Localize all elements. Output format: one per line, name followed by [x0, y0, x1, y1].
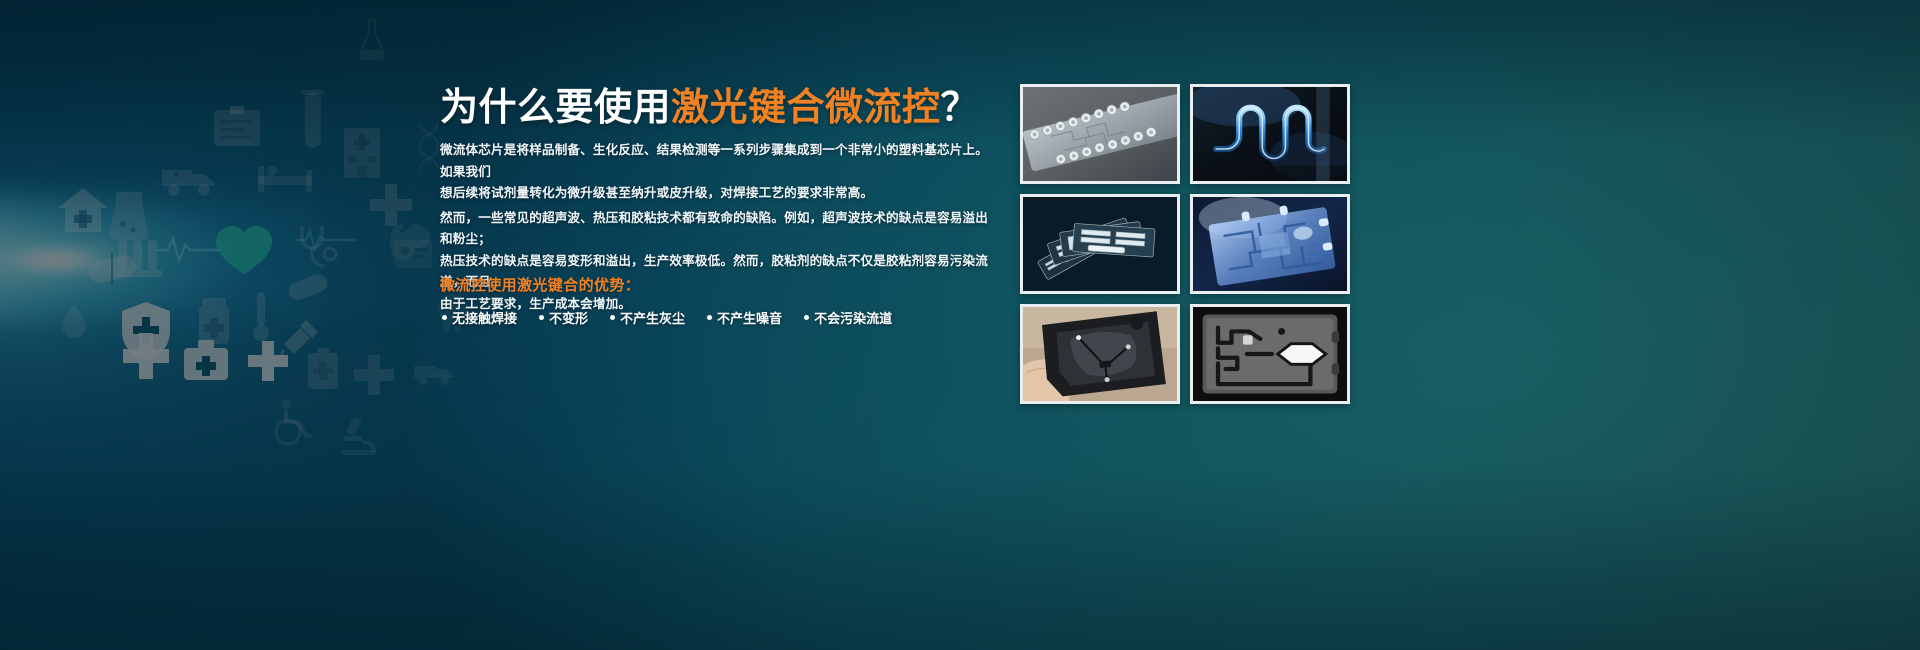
gallery-image-black-cartridge-chip[interactable] — [1190, 304, 1350, 404]
gallery-image-black-chip-in-hand[interactable] — [1020, 304, 1180, 404]
product-gallery — [1020, 84, 1350, 420]
content-column: 为什么要使用激光键合微流控？ 微流体芯片是将样品制备、生化反应、结果检测等一系列… — [440, 0, 1000, 650]
paragraph-line-1: 微流体芯片是将样品制备、生化反应、结果检测等一系列步骤集成到一个非常小的塑料基芯… — [440, 140, 996, 183]
advantage-label: 不产生噪音 — [717, 308, 782, 327]
advantages-subheading: 微流控使用激光键合的优势： — [440, 274, 640, 295]
glow-hotspot — [0, 242, 114, 278]
list-item: 无接触焊接 — [442, 308, 517, 327]
gallery-image-microfluidic-chip-with-ports[interactable] — [1020, 84, 1180, 184]
title-part-question-mark: ？ — [941, 87, 980, 129]
promo-banner: 为什么要使用激光键合微流控？ 微流体芯片是将样品制备、生化反应、结果检测等一系列… — [0, 0, 1920, 650]
paragraph-line-3: 然而，一些常见的超声波、热压和胶粘技术都有致命的缺陷。例如，超声波技术的缺点是容… — [440, 208, 996, 251]
advantages-list: 无接触焊接 不变形 不产生灰尘 不产生噪音 不会污染流道 — [442, 308, 1002, 327]
advantage-label: 无接触焊接 — [452, 308, 517, 327]
page-title: 为什么要使用激光键合微流控？ — [440, 87, 979, 129]
list-item: 不产生噪音 — [707, 308, 782, 327]
bullet-dot-icon — [610, 315, 615, 320]
advantage-label: 不变形 — [549, 308, 588, 327]
list-item: 不变形 — [539, 308, 588, 327]
gallery-image-chip-array-fan[interactable] — [1020, 194, 1180, 294]
bullet-dot-icon — [707, 315, 712, 320]
advantage-label: 不会污染流道 — [814, 308, 892, 327]
gallery-image-serpentine-channel-chip[interactable] — [1190, 84, 1350, 184]
title-part-white-prefix: 为什么要使用 — [440, 87, 671, 129]
bullet-dot-icon — [804, 315, 809, 320]
bullet-dot-icon — [442, 315, 447, 320]
bullet-dot-icon — [539, 315, 544, 320]
gallery-image-blue-transparent-manifold[interactable] — [1190, 194, 1350, 294]
advantage-label: 不产生灰尘 — [620, 308, 685, 327]
title-part-orange: 激光键合微流控 — [671, 87, 941, 129]
paragraph-line-2: 想后续将试剂量转化为微升级甚至纳升或皮升级，对焊接工艺的要求非常高。 — [440, 183, 996, 205]
list-item: 不会污染流道 — [804, 308, 892, 327]
list-item: 不产生灰尘 — [610, 308, 685, 327]
